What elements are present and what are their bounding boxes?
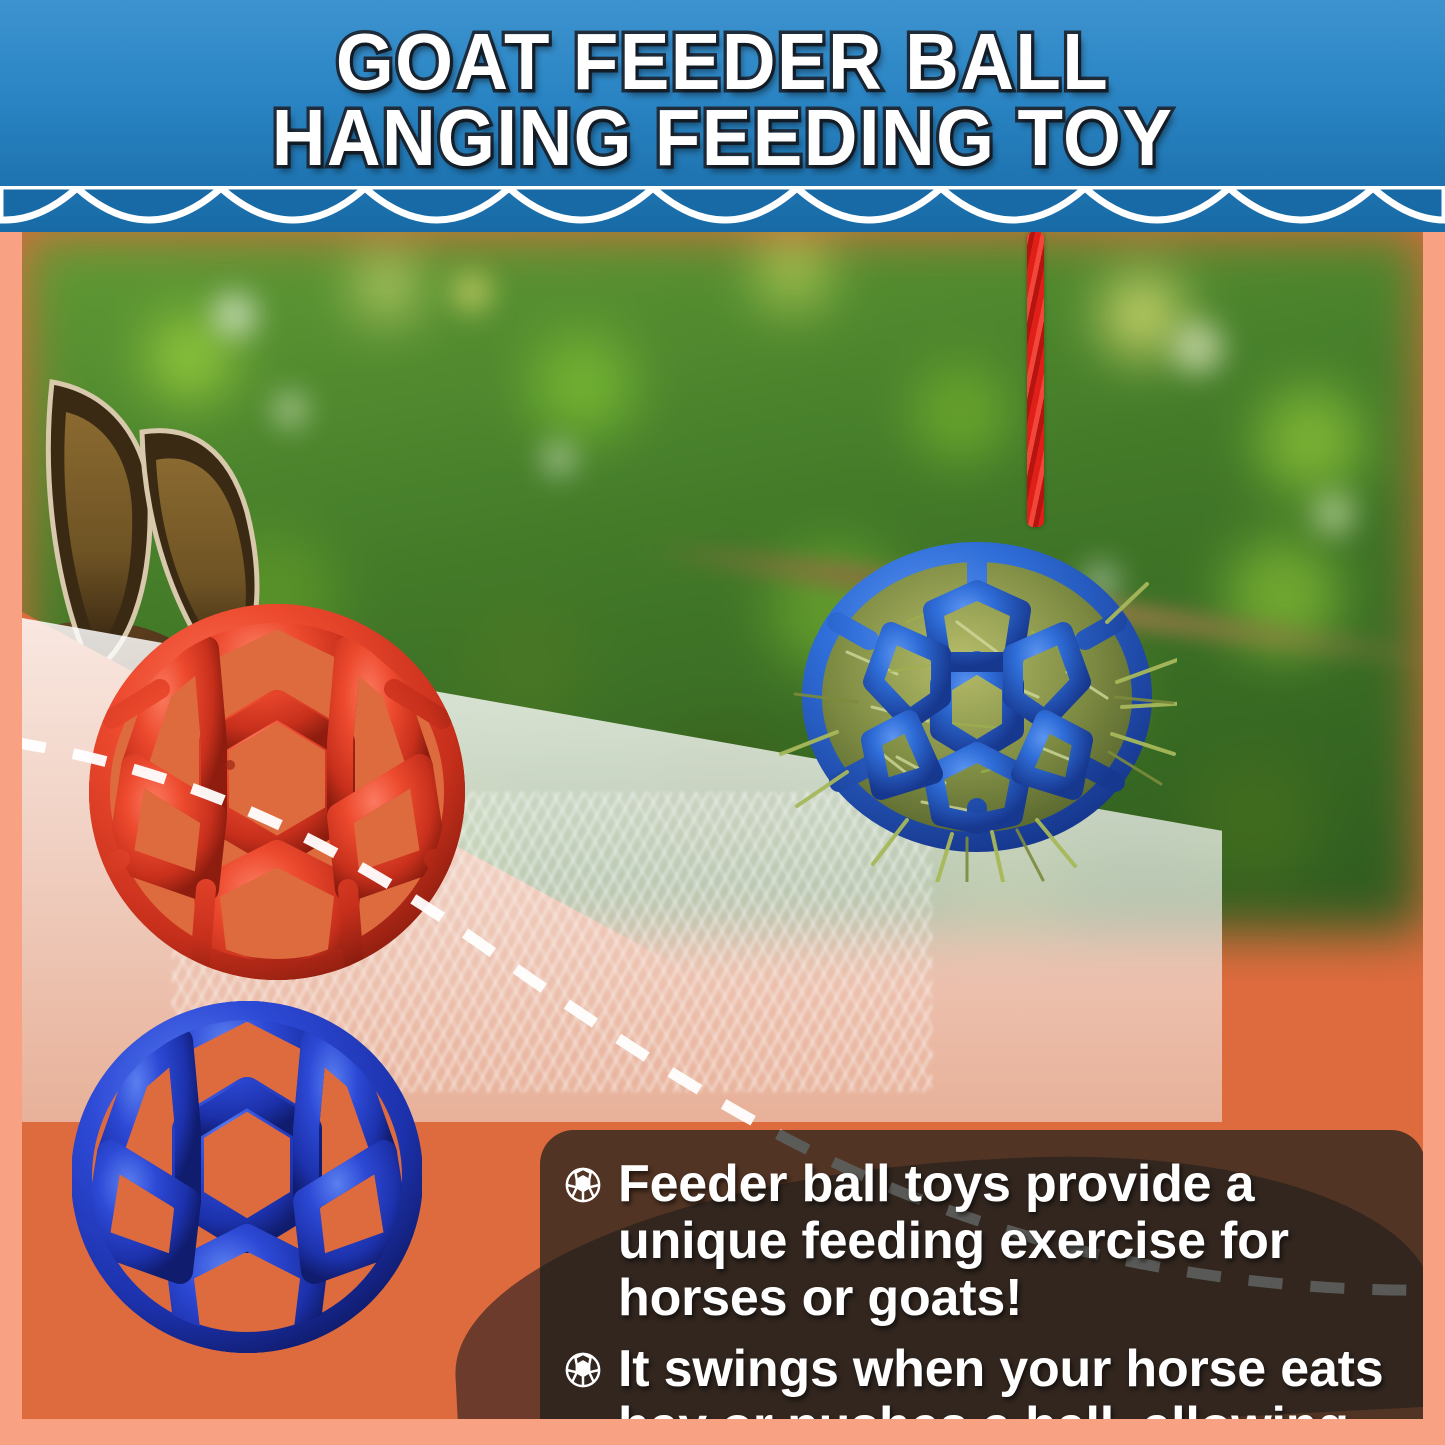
list-item-text: It swings when your horse eats hay or pu… xyxy=(618,1341,1403,1419)
bokeh-highlight xyxy=(452,272,492,312)
feeder-ball-icon xyxy=(564,1351,602,1389)
list-item: It swings when your horse eats hay or pu… xyxy=(564,1341,1403,1419)
photo-stage: Feeder ball toys provide a unique feedin… xyxy=(22,232,1423,1419)
list-item-text: Feeder ball toys provide a unique feedin… xyxy=(618,1156,1403,1327)
header-banner: GOAT FEEDER BALL HANGING FEEDING TOY xyxy=(0,0,1445,232)
red-hanging-rope xyxy=(1027,232,1044,527)
blue-feeder-ball-with-hay xyxy=(777,502,1177,882)
frame-border-bottom xyxy=(0,1419,1445,1445)
feature-list-box: Feeder ball toys provide a unique feedin… xyxy=(540,1130,1423,1419)
bokeh-highlight xyxy=(212,292,258,338)
red-feeder-ball xyxy=(82,597,472,987)
blue-feeder-ball xyxy=(72,997,422,1357)
feeder-ball-icon xyxy=(564,1166,602,1204)
page-title: GOAT FEEDER BALL HANGING FEEDING TOY xyxy=(51,24,1395,176)
bokeh-highlight xyxy=(1312,492,1356,536)
list-item: Feeder ball toys provide a unique feedin… xyxy=(564,1156,1403,1327)
frame-border-left xyxy=(0,232,22,1445)
product-infographic: Feeder ball toys provide a unique feedin… xyxy=(0,0,1445,1445)
bokeh-highlight xyxy=(1172,322,1224,374)
frame-border-right xyxy=(1423,232,1445,1445)
bokeh-highlight xyxy=(542,442,576,476)
